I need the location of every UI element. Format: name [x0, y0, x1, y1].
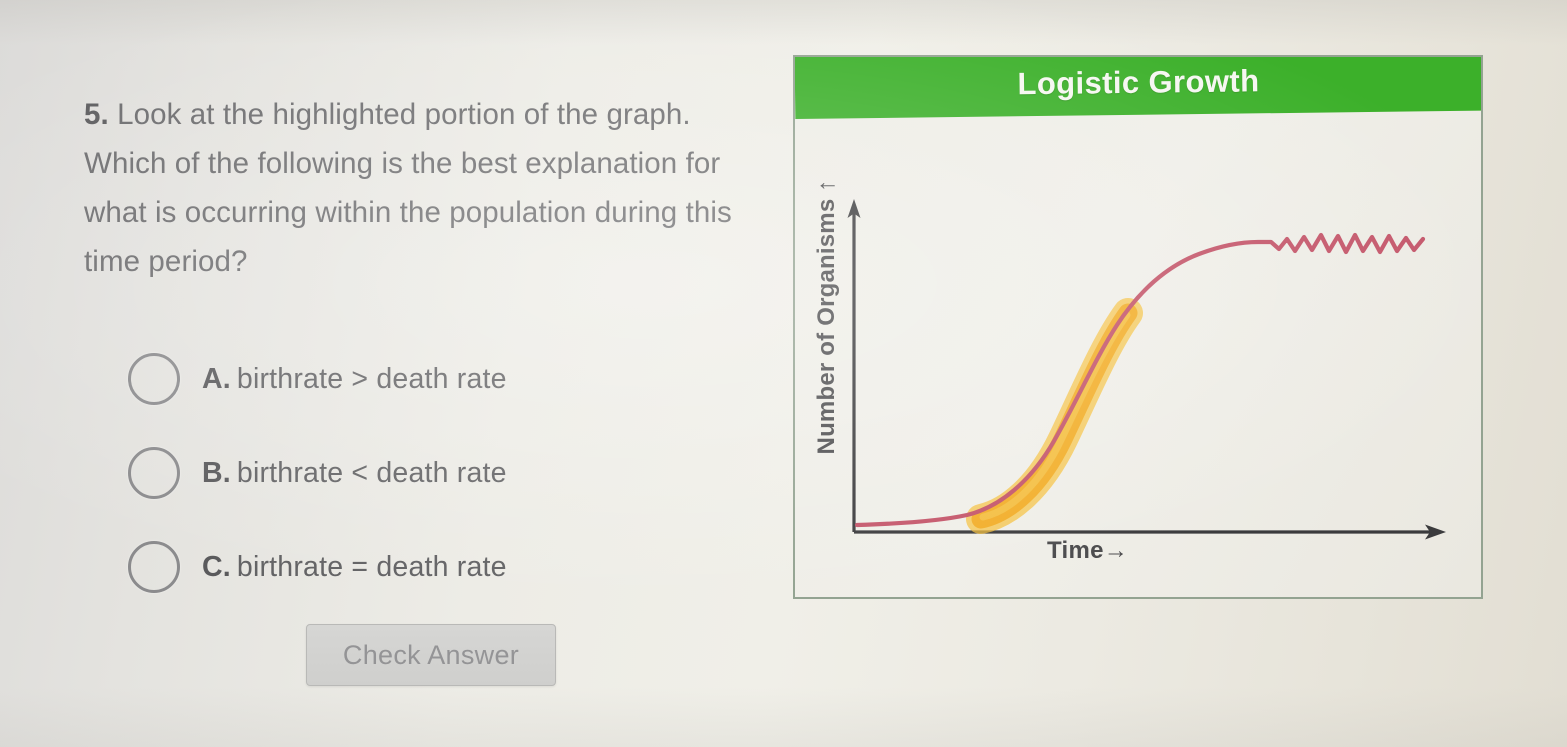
- option-letter-a: A.: [202, 363, 231, 395]
- option-text-b: birthrate < death rate: [237, 457, 507, 489]
- answer-options-list: A.birthrate > death rate B.birthrate < d…: [128, 332, 768, 614]
- question-panel: 5. Look at the highlighted portion of th…: [84, 90, 774, 286]
- radio-button-a[interactable]: [128, 353, 180, 405]
- x-axis-label: Time→: [1047, 537, 1128, 565]
- option-text-c: birthrate = death rate: [237, 551, 507, 583]
- logistic-growth-chart-card: Logistic Growth: [793, 55, 1483, 599]
- y-axis-label-text: Number of Organisms: [813, 199, 840, 455]
- y-axis: [848, 199, 861, 532]
- radio-button-c[interactable]: [128, 541, 180, 593]
- chart-title-banner: Logistic Growth: [795, 55, 1483, 119]
- option-row-c[interactable]: C.birthrate = death rate: [128, 520, 768, 614]
- option-label-b: B.birthrate < death rate: [202, 457, 507, 490]
- right-arrow-icon: →: [1104, 537, 1128, 564]
- logistic-growth-plot: [795, 121, 1482, 597]
- y-axis-label: Number of Organisms ↑: [813, 167, 841, 467]
- logistic-curve: [857, 235, 1423, 525]
- option-row-a[interactable]: A.birthrate > death rate: [128, 332, 768, 426]
- x-axis: [854, 525, 1446, 540]
- x-axis-label-text: Time: [1047, 537, 1104, 564]
- question-body: Look at the highlighted portion of the g…: [84, 98, 732, 278]
- question-number: 5.: [84, 98, 109, 131]
- question-text: 5. Look at the highlighted portion of th…: [84, 90, 774, 286]
- option-letter-b: B.: [202, 457, 231, 489]
- option-label-a: A.birthrate > death rate: [202, 363, 507, 396]
- option-row-b[interactable]: B.birthrate < death rate: [128, 426, 768, 520]
- option-letter-c: C.: [202, 551, 231, 583]
- check-answer-button[interactable]: Check Answer: [306, 624, 556, 686]
- radio-button-b[interactable]: [128, 447, 180, 499]
- chart-plot-area: Number of Organisms ↑ Time→: [795, 121, 1482, 597]
- option-text-a: birthrate > death rate: [237, 363, 507, 395]
- chart-title: Logistic Growth: [1017, 63, 1259, 102]
- up-arrow-icon: ↑: [813, 180, 840, 192]
- quiz-screenshot: 5. Look at the highlighted portion of th…: [0, 0, 1567, 747]
- option-label-c: C.birthrate = death rate: [202, 551, 507, 584]
